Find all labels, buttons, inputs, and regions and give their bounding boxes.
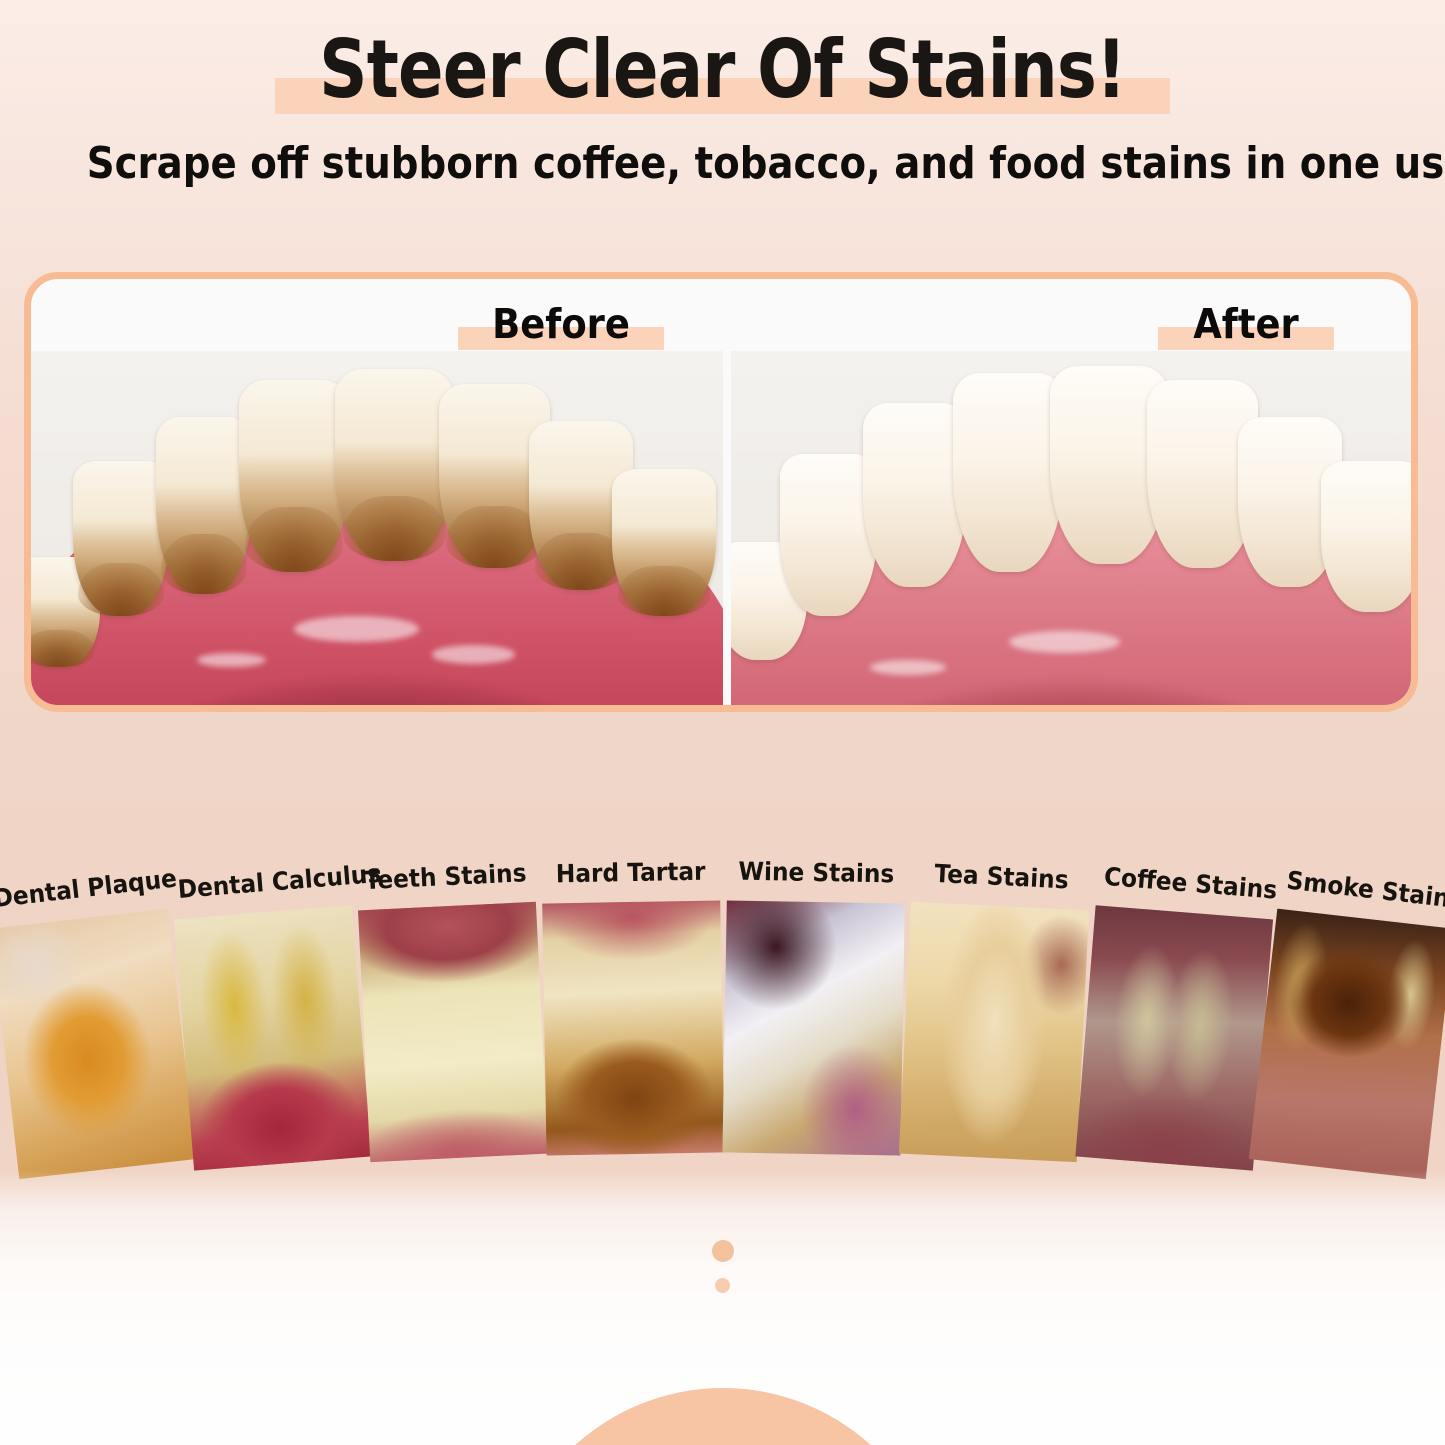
page-subtitle: Scrape off stubborn coffee, tobacco, and… [87, 136, 1359, 192]
carousel-pager[interactable] [712, 1240, 734, 1293]
after-gloss [870, 660, 946, 675]
stain-item-smoke-stains[interactable]: Smoke Stains [1249, 865, 1445, 1179]
stain-item-wine-stains[interactable]: Wine Stains [722, 856, 905, 1155]
before-tooth [73, 461, 170, 616]
page-title: Steer Clear Of Stains! [116, 26, 1330, 114]
before-gloss [294, 616, 419, 642]
stain-item-coffee-stains[interactable]: Coffee Stains [1075, 861, 1276, 1170]
before-tooth [239, 380, 350, 571]
stain-item-hard-tartar[interactable]: Hard Tartar [541, 856, 724, 1155]
stain-thumbnail-smoke-stains[interactable] [1249, 909, 1445, 1180]
stain-type-gallery: Dental Plaque Dental Calculus Teeth Stai… [0, 866, 1445, 1266]
before-mouth-illustration [31, 351, 723, 712]
after-tooth [953, 373, 1064, 572]
before-after-panel: Before After [24, 272, 1418, 712]
stain-thumbnail-hard-tartar[interactable] [542, 900, 724, 1155]
stain-item-dental-calculus[interactable]: Dental Calculus [170, 861, 371, 1170]
after-tooth [863, 403, 967, 587]
pager-dot-active[interactable] [712, 1240, 734, 1262]
stain-label: Dental Plaque [0, 866, 160, 915]
after-photo [731, 351, 1418, 712]
title-block: Steer Clear Of Stains! [0, 26, 1445, 136]
stain-label: Coffee Stains [1103, 862, 1270, 905]
stain-label: Dental Calculus [177, 862, 344, 905]
stain-thumbnail-coffee-stains[interactable] [1075, 905, 1273, 1170]
after-tooth [1321, 461, 1418, 612]
stain-item-tea-stains[interactable]: Tea Stains [899, 858, 1091, 1162]
after-gloss [1009, 631, 1120, 653]
stain-thumbnail-dental-calculus[interactable] [174, 905, 372, 1170]
stain-thumbnail-dental-plaque[interactable] [0, 909, 196, 1180]
before-photo [31, 351, 723, 712]
after-mouth-illustration [731, 351, 1418, 712]
stain-thumbnail-teeth-stains[interactable] [358, 902, 548, 1162]
stain-label: Wine Stains [733, 857, 899, 890]
before-tooth [612, 469, 716, 616]
stain-label: Teeth Stains [362, 858, 529, 896]
stain-label: Tea Stains [918, 858, 1085, 896]
after-label-text: After [1102, 299, 1390, 349]
stain-thumbnail-wine-stains[interactable] [722, 900, 904, 1155]
stain-thumbnail-tea-stains[interactable] [899, 902, 1089, 1162]
after-label: After [1086, 299, 1406, 373]
before-tooth [335, 369, 453, 560]
stain-item-teeth-stains[interactable]: Teeth Stains [356, 858, 548, 1162]
stain-label: Hard Tartar [548, 857, 714, 890]
pager-dot-inactive[interactable] [715, 1278, 730, 1293]
before-label-text: Before [404, 299, 719, 349]
before-tooth [156, 417, 253, 594]
before-label: Before [386, 299, 736, 373]
stain-label: Smoke Stains [1285, 866, 1445, 915]
product-marketing-image: Steer Clear Of Stains! Scrape off stubbo… [0, 0, 1445, 1445]
bottom-decorative-circle [503, 1388, 943, 1445]
stain-item-dental-plaque[interactable]: Dental Plaque [0, 865, 196, 1179]
before-gloss [432, 645, 515, 663]
